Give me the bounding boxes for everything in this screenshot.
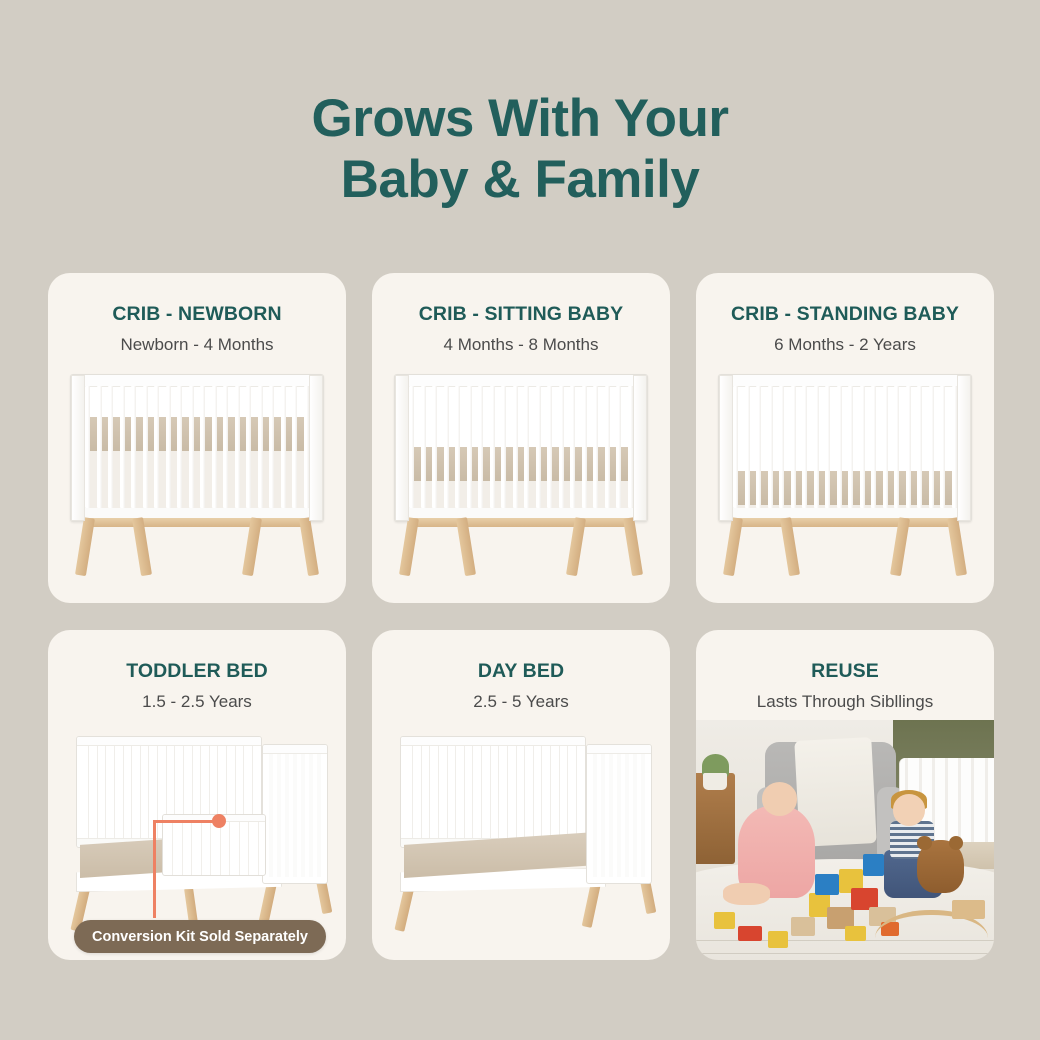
crib-leg [947,517,967,576]
crib-post-left [71,375,85,521]
photo-teddy-bear [917,840,965,893]
photo-toy-block [845,926,866,940]
crib-frame [70,374,324,522]
crib-leg [723,517,743,576]
crib-leg [299,517,319,576]
lifestyle-photo-children-playing [696,720,994,960]
crib-base-bar [410,518,632,527]
stage-card-crib-standing-baby[interactable]: CRIB - STANDING BABY 6 Months - 2 Years [696,273,994,603]
page-title: Grows With Your Baby & Family [0,88,1040,211]
day-bed-illustration [382,728,660,918]
crib-post-right [957,375,971,521]
crib-leg [75,517,95,576]
conversion-kit-badge: Conversion Kit Sold Separately [74,920,326,953]
photo-toy-block [738,926,762,940]
crib-leg [399,517,419,576]
crib-legs [70,518,324,580]
stage-card-toddler-bed[interactable]: TODDLER BED 1.5 - 2.5 Years [48,630,346,960]
card-title: TODDLER BED [48,660,346,683]
crib-base-bar [86,518,308,527]
callout-line-horizontal [153,820,219,823]
card-subtitle: 1.5 - 2.5 Years [48,692,346,712]
bed-footboard [262,744,328,884]
crib-illustration-mattress-high [64,368,330,583]
photo-wooden-cart [952,900,985,919]
crib-slats [409,386,633,508]
page-title-line-2: Baby & Family [0,149,1040,210]
crib-illustration-mattress-low [712,368,978,583]
crib-post-right [633,375,647,521]
photo-toy-block [768,931,789,948]
crib-post-left [719,375,733,521]
stage-card-grid: CRIB - NEWBORN Newborn - 4 Months [48,273,993,960]
card-subtitle: Lasts Through Sibllings [696,692,994,712]
card-title: CRIB - STANDING BABY [696,303,994,326]
card-subtitle: 4 Months - 8 Months [372,335,670,355]
crib-frame [394,374,648,522]
stage-card-reuse[interactable]: REUSE Lasts Through Sibllings [696,630,994,960]
photo-plant-pot [703,773,727,790]
card-subtitle: 2.5 - 5 Years [372,692,670,712]
crib-legs [718,518,972,580]
crib-base-bar [734,518,956,527]
callout-line-vertical [153,820,156,918]
photo-toy-block [791,917,815,936]
crib-slats [733,386,957,508]
card-title: DAY BED [372,660,670,683]
bed-footboard [586,744,652,884]
crib-legs [394,518,648,580]
photo-boy-head [893,794,926,825]
stage-card-crib-newborn[interactable]: CRIB - NEWBORN Newborn - 4 Months [48,273,346,603]
toddler-bed-illustration [58,728,336,918]
crib-illustration-mattress-mid [388,368,654,583]
crib-leg [623,517,643,576]
bed-headboard [400,736,586,848]
photo-toy-block [714,912,735,929]
photo-girl-head [762,782,798,816]
stage-card-day-bed[interactable]: DAY BED 2.5 - 5 Years [372,630,670,960]
card-title: CRIB - SITTING BABY [372,303,670,326]
card-title: REUSE [696,660,994,683]
crib-slats [85,386,309,508]
card-title: CRIB - NEWBORN [48,303,346,326]
photo-toy-block [815,874,839,896]
stage-card-crib-sitting-baby[interactable]: CRIB - SITTING BABY 4 Months - 8 Months [372,273,670,603]
page-title-line-1: Grows With Your [0,88,1040,149]
callout-target-dot [212,814,226,828]
card-subtitle: 6 Months - 2 Years [696,335,994,355]
crib-post-right [309,375,323,521]
photo-girl-leg [723,883,771,905]
photo-toy-block [863,854,884,876]
crib-frame [718,374,972,522]
card-subtitle: Newborn - 4 Months [48,335,346,355]
crib-post-left [395,375,409,521]
